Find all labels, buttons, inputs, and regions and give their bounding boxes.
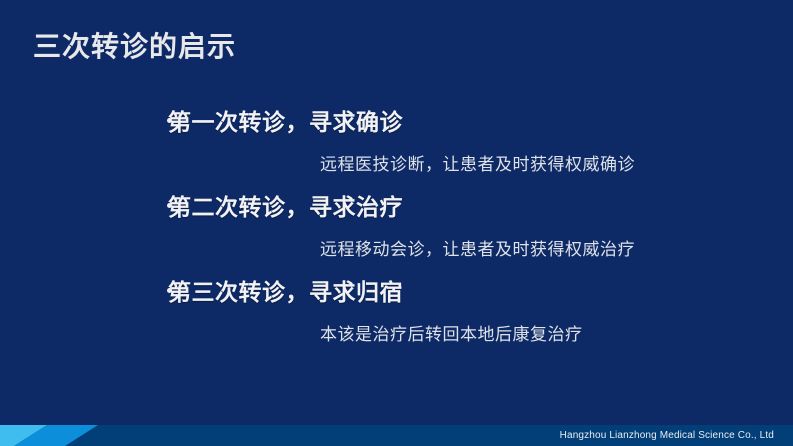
bullet-group-2: 第二次转诊，寻求治疗 远程移动会诊，让患者及时获得权威治疗 bbox=[0, 183, 793, 268]
sub-item-1: 远程医技诊断，让患者及时获得权威确诊 bbox=[0, 141, 793, 183]
bullet-item-3: 第三次转诊，寻求归宿 bbox=[0, 268, 793, 311]
bullet-dot-icon bbox=[167, 288, 172, 293]
bullet-label-3: 第三次转诊，寻求归宿 bbox=[168, 273, 403, 307]
bullet-item-2: 第二次转诊，寻求治疗 bbox=[0, 183, 793, 226]
footer-band: Hangzhou Lianzhong Medical Science Co., … bbox=[0, 425, 793, 446]
bullet-group-1: 第一次转诊，寻求确诊 远程医技诊断，让患者及时获得权威确诊 bbox=[0, 98, 793, 183]
slide-body: 第一次转诊，寻求确诊 远程医技诊断，让患者及时获得权威确诊 第二次转诊，寻求治疗… bbox=[0, 98, 793, 353]
bullet-dot-icon bbox=[167, 203, 172, 208]
sub-item-3: 本该是治疗后转回本地后康复治疗 bbox=[0, 311, 793, 353]
sub-label-3: 本该是治疗后转回本地后康复治疗 bbox=[320, 320, 583, 345]
bullet-dot-icon bbox=[167, 118, 172, 123]
presentation-slide: 三次转诊的启示 第一次转诊，寻求确诊 远程医技诊断，让患者及时获得权威确诊 第二… bbox=[0, 0, 793, 446]
footer-company-name: Hangzhou Lianzhong Medical Science Co., … bbox=[560, 425, 774, 446]
bullet-group-3: 第三次转诊，寻求归宿 本该是治疗后转回本地后康复治疗 bbox=[0, 268, 793, 353]
bullet-item-1: 第一次转诊，寻求确诊 bbox=[0, 98, 793, 141]
page-title: 三次转诊的启示 bbox=[33, 30, 236, 64]
bullet-label-1: 第一次转诊，寻求确诊 bbox=[168, 103, 403, 137]
sub-label-1: 远程医技诊断，让患者及时获得权威确诊 bbox=[320, 150, 635, 175]
sub-item-2: 远程移动会诊，让患者及时获得权威治疗 bbox=[0, 226, 793, 268]
bullet-label-2: 第二次转诊，寻求治疗 bbox=[168, 188, 403, 222]
sub-label-2: 远程移动会诊，让患者及时获得权威治疗 bbox=[320, 235, 635, 260]
